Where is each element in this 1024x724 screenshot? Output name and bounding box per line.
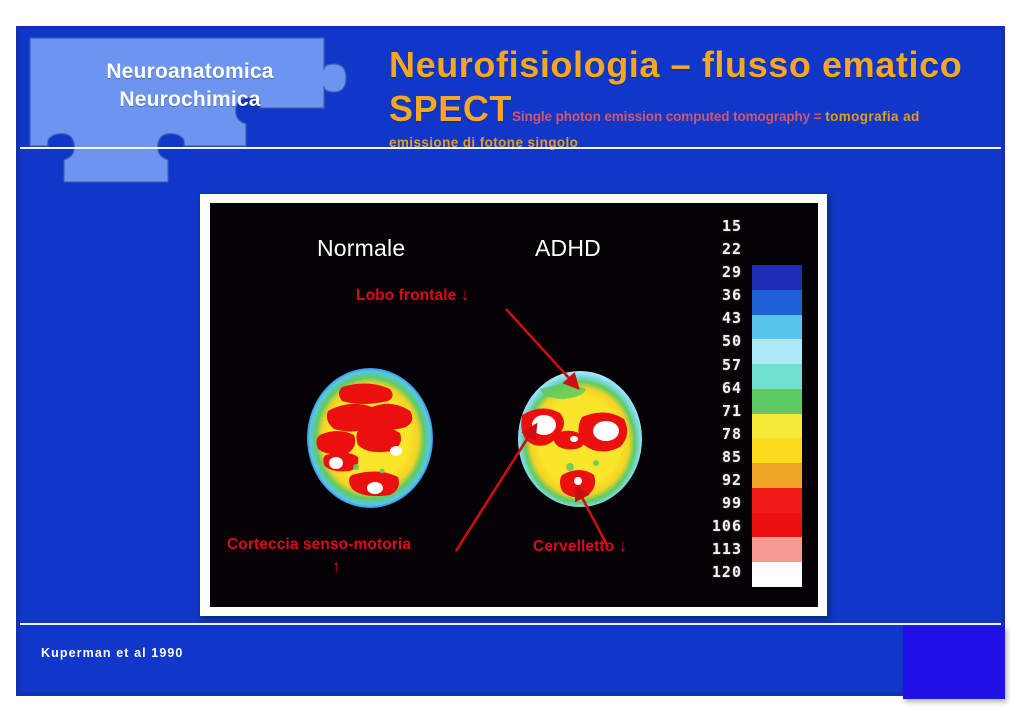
down-arrow-icon: ↓ bbox=[461, 285, 470, 304]
colorbar-band bbox=[752, 438, 802, 463]
colorbar: 15222936435057647178859299106113120 bbox=[680, 213, 810, 598]
colorbar-band bbox=[752, 414, 802, 439]
header-divider bbox=[20, 147, 1001, 149]
colorbar-tick: 29 bbox=[680, 261, 742, 284]
colorbar-tick: 99 bbox=[680, 492, 742, 515]
colorbar-tick: 106 bbox=[680, 515, 742, 538]
scan-label-adhd: ADHD bbox=[535, 235, 601, 262]
scan-label-normale: Normale bbox=[317, 235, 405, 262]
colorbar-band bbox=[752, 463, 802, 488]
colorbar-tick: 85 bbox=[680, 446, 742, 469]
annotation-cervelletto: Cervelletto ↓ bbox=[533, 536, 627, 556]
puzzle-piece-tag: Neuroanatomica Neurochimica bbox=[24, 34, 354, 186]
annotation-corteccia-text: Corteccia senso-motoria bbox=[227, 536, 411, 553]
colorbar-tick: 120 bbox=[680, 561, 742, 584]
colorbar-band bbox=[752, 513, 802, 538]
colorbar-ticks: 15222936435057647178859299106113120 bbox=[680, 215, 742, 585]
brain-scan-normale bbox=[290, 363, 450, 513]
up-arrow-icon: ↑ bbox=[332, 557, 341, 577]
colorbar-band bbox=[752, 290, 802, 315]
title-block: Neurofisiologia – flusso ematico SPECTSi… bbox=[389, 44, 989, 130]
colorbar-tick: 50 bbox=[680, 330, 742, 353]
colorbar-band bbox=[752, 364, 802, 389]
down-arrow-icon-cervelletto: ↓ bbox=[619, 536, 628, 555]
colorbar-tick: 43 bbox=[680, 307, 742, 330]
footer-citation: Kuperman et al 1990 bbox=[41, 646, 183, 660]
title-expansion-italian: tomografia ad bbox=[825, 109, 919, 124]
title-acronym: SPECT bbox=[389, 88, 512, 129]
colorbar-tick: 92 bbox=[680, 469, 742, 492]
annotation-cervelletto-text: Cervelletto bbox=[533, 538, 614, 555]
colorbar-gradient bbox=[752, 265, 802, 587]
colorbar-band bbox=[752, 562, 802, 587]
colorbar-tick: 22 bbox=[680, 238, 742, 261]
spect-figure: Normale ADHD Lobo frontale ↓ Corteccia s… bbox=[210, 203, 818, 607]
page-title: Neurofisiologia – flusso ematico bbox=[389, 44, 989, 86]
annotation-lobo-frontale: Lobo frontale ↓ bbox=[356, 285, 469, 305]
colorbar-band bbox=[752, 315, 802, 340]
colorbar-tick: 78 bbox=[680, 423, 742, 446]
annotation-lobo-frontale-text: Lobo frontale bbox=[356, 287, 456, 304]
footer-accent-box bbox=[903, 626, 1005, 699]
title-acronym-row: SPECTSingle photon emission computed tom… bbox=[389, 88, 989, 130]
colorbar-band bbox=[752, 265, 802, 290]
annotation-corteccia-senso-motoria: Corteccia senso-motoria bbox=[227, 536, 411, 554]
colorbar-band bbox=[752, 339, 802, 364]
slide-root: Neuroanatomica Neurochimica Neurofisiolo… bbox=[0, 0, 1024, 724]
puzzle-tag-label: Neuroanatomica Neurochimica bbox=[52, 58, 328, 115]
colorbar-tick: 15 bbox=[680, 215, 742, 238]
colorbar-band bbox=[752, 537, 802, 562]
colorbar-band bbox=[752, 389, 802, 414]
brain-scan-adhd bbox=[500, 363, 660, 513]
colorbar-tick: 64 bbox=[680, 377, 742, 400]
title-expansion-english: Single photon emission computed tomograp… bbox=[512, 109, 825, 124]
colorbar-tick: 71 bbox=[680, 400, 742, 423]
colorbar-tick: 36 bbox=[680, 284, 742, 307]
colorbar-tick: 57 bbox=[680, 354, 742, 377]
figure-frame: Normale ADHD Lobo frontale ↓ Corteccia s… bbox=[200, 194, 827, 616]
colorbar-band bbox=[752, 488, 802, 513]
colorbar-tick: 113 bbox=[680, 538, 742, 561]
